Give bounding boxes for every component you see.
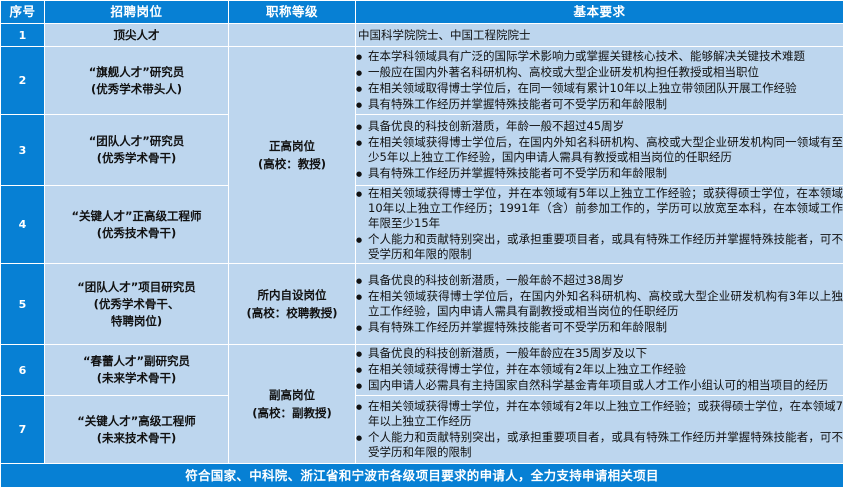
requirement-item: 个人能力和贡献特别突出，或承担重要项目者，或具有特殊工作经历并掌握特殊技能者，可…: [356, 232, 843, 262]
position-line: (优秀学术骨干): [45, 150, 228, 167]
requirement-item: 在相关领域获得博士学位，并在本领域有5年以上独立工作经验；或获得硕士学位，在本领…: [356, 186, 843, 231]
rank-line: 副高岗位: [229, 386, 355, 404]
requirement-item: 具备优良的科技创新潜质，一般年龄应在35周岁及以下: [356, 346, 843, 361]
row-requirements-cell: 在相关领域获得博士学位，并在本领域有5年以上独立工作经验；或获得硕士学位，在本领…: [356, 186, 843, 264]
row-requirements-cell: 中国科学院院士、中国工程院院士: [356, 24, 843, 47]
row-requirements-cell: 具备优良的科技创新潜质，一般年龄不超过38周岁 在相关领域获得博士学位后，在国内…: [356, 264, 843, 345]
requirement-item: 在相关领域获得博士学位，并在本领域有2年以上独立工作经验；或获得硕士学位，在本领…: [356, 399, 843, 429]
requirements-list: 具备优良的科技创新潜质，一般年龄不超过38周岁 在相关领域获得博士学位后，在国内…: [356, 273, 843, 335]
requirement-item: 具备优良的科技创新潜质，年龄一般不超过45周岁: [356, 119, 843, 134]
position-line: “旗舰人才”研究员: [45, 64, 228, 81]
row-requirements-cell: 在本学科领域具有广泛的国际学术影响力或掌握关键核心技术、能够解决关键技术难题 一…: [356, 47, 843, 115]
position-line: “团队人才”研究员: [45, 133, 228, 150]
header-index: 序号: [1, 1, 45, 24]
row-requirements-cell: 具备优良的科技创新潜质，年龄一般不超过45周岁 在相关领域获得博士学位后，在国内…: [356, 115, 843, 186]
row-index-cell: 4: [1, 186, 45, 264]
requirement-plain-text: 中国科学院院士、中国工程院院士: [356, 28, 843, 43]
position-line: (优秀技术骨干): [45, 225, 228, 242]
position-line: “团队人才”项目研究员: [45, 279, 228, 296]
row-index-cell: 5: [1, 264, 45, 345]
position-line: “春蕾人才”副研究员: [45, 353, 228, 370]
table-row: 1 顶尖人才 中国科学院院士、中国工程院院士: [1, 24, 843, 47]
row-position-cell: “关键人才”高级工程师 (未来技术骨干): [45, 396, 229, 464]
row-rank-cell: 副高岗位 (高校：副教授): [229, 345, 356, 464]
requirements-list: 具备优良的科技创新潜质，年龄一般不超过45周岁 在相关领域获得博士学位后，在国内…: [356, 119, 843, 181]
header-position: 招聘岗位: [45, 1, 229, 24]
table-row: 2 “旗舰人才”研究员 (优秀学术带头人) 正高岗位 (高校：教授) 在本学科领…: [1, 47, 843, 115]
requirement-item: 在本学科领域具有广泛的国际学术影响力或掌握关键核心技术、能够解决关键技术难题: [356, 49, 843, 64]
position-line: “关键人才”正高级工程师: [45, 208, 228, 225]
requirement-item: 具有特殊工作经历并掌握特殊技能者可不受学历和年龄限制: [356, 166, 843, 181]
row-index-cell: 6: [1, 345, 45, 396]
position-line: (优秀学术带头人): [45, 81, 228, 98]
rank-line: 正高岗位: [229, 137, 355, 155]
rank-line: (高校：教授): [229, 155, 355, 173]
table-row: 6 “春蕾人才”副研究员 (未来学术骨干) 副高岗位 (高校：副教授) 具备优良…: [1, 345, 843, 396]
requirements-list: 在相关领域获得博士学位，并在本领域有2年以上独立工作经验；或获得硕士学位，在本领…: [356, 399, 843, 460]
row-position-cell: “团队人才”研究员 (优秀学术骨干): [45, 115, 229, 186]
recruitment-requirements-table: 序号 招聘岗位 职称等级 基本要求 1 顶尖人才 中国科学院院士、中国工程院院士…: [0, 0, 843, 488]
row-position-cell: 顶尖人才: [45, 24, 229, 47]
row-index-cell: 7: [1, 396, 45, 464]
position-line: (未来技术骨干): [45, 430, 228, 447]
table-footer-row: 符合国家、中科院、浙江省和宁波市各级项目要求的申请人，全力支持申请相关项目: [1, 464, 843, 488]
requirement-item: 具备优良的科技创新潜质，一般年龄不超过38周岁: [356, 273, 843, 288]
table-row: 3 “团队人才”研究员 (优秀学术骨干) 具备优良的科技创新潜质，年龄一般不超过…: [1, 115, 843, 186]
rank-line: (高校：校聘教授): [229, 304, 355, 322]
row-position-cell: “团队人才”项目研究员 (优秀学术骨干、 特聘岗位): [45, 264, 229, 345]
requirement-item: 个人能力和贡献特别突出，或承担重要项目者，或具有特殊工作经历并掌握特殊技能者，可…: [356, 430, 843, 460]
header-requirements: 基本要求: [356, 1, 843, 24]
row-rank-cell-empty: [229, 24, 356, 47]
table-row: 4 “关键人才”正高级工程师 (优秀技术骨干) 在相关领域获得博士学位，并在本领…: [1, 186, 843, 264]
requirement-item: 在相关领域获得博士学位后，在国内外知名科研机构、高校或大型企业研发机构同一领域有…: [356, 135, 843, 165]
row-index-cell: 1: [1, 24, 45, 47]
requirements-list: 具备优良的科技创新潜质，一般年龄应在35周岁及以下 在相关领域获得博士学位，并在…: [356, 346, 843, 393]
position-line: “关键人才”高级工程师: [45, 413, 228, 430]
requirement-item: 具有特殊工作经历并掌握特殊技能者可不受学历和年龄限制: [356, 97, 843, 112]
row-position-cell: “关键人才”正高级工程师 (优秀技术骨干): [45, 186, 229, 264]
position-line: 特聘岗位): [45, 313, 228, 330]
row-position-cell: “旗舰人才”研究员 (优秀学术带头人): [45, 47, 229, 115]
table-header-row: 序号 招聘岗位 职称等级 基本要求: [1, 1, 843, 24]
requirement-item: 具有特殊工作经历并掌握特殊技能者可不受学历和年龄限制: [356, 320, 843, 335]
table-row: 7 “关键人才”高级工程师 (未来技术骨干) 在相关领域获得博士学位，并在本领域…: [1, 396, 843, 464]
requirement-item: 在相关领域取得博士学位后，在同一领域有累计10年以上独立带领团队开展工作经验: [356, 81, 843, 96]
position-line: (优秀学术骨干、: [45, 296, 228, 313]
footer-note: 符合国家、中科院、浙江省和宁波市各级项目要求的申请人，全力支持申请相关项目: [1, 464, 843, 488]
header-rank: 职称等级: [229, 1, 356, 24]
row-rank-cell: 正高岗位 (高校：教授): [229, 47, 356, 264]
rank-line: 所内自设岗位: [229, 286, 355, 304]
position-line: (未来学术骨干): [45, 370, 228, 387]
row-index-cell: 2: [1, 47, 45, 115]
requirement-item: 一般应在国内外著名科研机构、高校或大型企业研发机构担任教授或相当职位: [356, 65, 843, 80]
requirement-item: 国内申请人必需具有主持国家自然科学基金青年项目或人才工作小组认可的相当项目的经历: [356, 378, 843, 393]
requirement-item: 在相关领域获得博士学位后，在国内外知名科研机构、高校或大型企业研发机构有3年以上…: [356, 289, 843, 319]
row-rank-cell: 所内自设岗位 (高校：校聘教授): [229, 264, 356, 345]
row-requirements-cell: 具备优良的科技创新潜质，一般年龄应在35周岁及以下 在相关领域获得博士学位，并在…: [356, 345, 843, 396]
row-position-cell: “春蕾人才”副研究员 (未来学术骨干): [45, 345, 229, 396]
requirements-list: 在本学科领域具有广泛的国际学术影响力或掌握关键核心技术、能够解决关键技术难题 一…: [356, 49, 843, 112]
rank-line: (高校：副教授): [229, 404, 355, 422]
table-row: 5 “团队人才”项目研究员 (优秀学术骨干、 特聘岗位) 所内自设岗位 (高校：…: [1, 264, 843, 345]
row-index-cell: 3: [1, 115, 45, 186]
requirement-item: 在相关领域获得博士学位，并在本领域有2年以上独立工作经验: [356, 362, 843, 377]
recruitment-requirements-table-container: 序号 招聘岗位 职称等级 基本要求 1 顶尖人才 中国科学院院士、中国工程院院士…: [0, 0, 843, 479]
table-body: 1 顶尖人才 中国科学院院士、中国工程院院士 2 “旗舰人才”研究员 (优秀学术…: [1, 24, 843, 488]
requirements-list: 在相关领域获得博士学位，并在本领域有5年以上独立工作经验；或获得硕士学位，在本领…: [356, 186, 843, 262]
row-requirements-cell: 在相关领域获得博士学位，并在本领域有2年以上独立工作经验；或获得硕士学位，在本领…: [356, 396, 843, 464]
